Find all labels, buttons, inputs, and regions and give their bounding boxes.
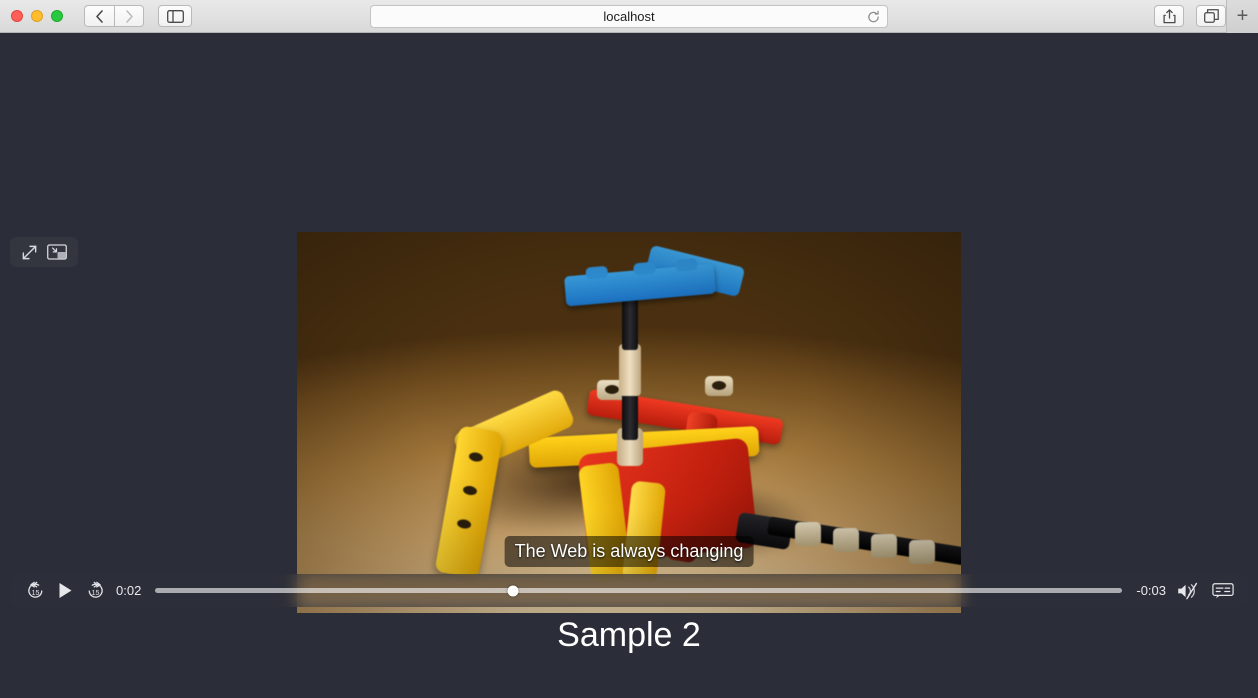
remaining-time-label: -0:03 [1128, 583, 1174, 598]
page-content: The Web is always changing 15 [0, 33, 1258, 698]
timeline-knob[interactable] [508, 585, 519, 596]
picture-in-picture-icon [47, 244, 67, 260]
play-button[interactable] [54, 578, 76, 604]
timeline-scrubber[interactable] [155, 588, 1122, 593]
picture-in-picture-button[interactable] [47, 244, 67, 260]
show-all-tabs-button[interactable] [1196, 5, 1226, 27]
reload-icon [867, 10, 880, 23]
skip-forward-15-icon: 15 [86, 581, 105, 600]
share-icon [1163, 9, 1176, 24]
mute-button[interactable] [1174, 578, 1200, 604]
media-float-pill [10, 237, 78, 267]
back-button[interactable] [84, 5, 114, 27]
video-player[interactable]: The Web is always changing [297, 232, 961, 613]
toolbar-right-group [1154, 5, 1226, 27]
page-title: Sample 2 [0, 616, 1258, 655]
share-button[interactable] [1154, 5, 1184, 27]
timeline-track [155, 588, 1122, 593]
skip-back-15-icon: 15 [26, 581, 45, 600]
close-window-button[interactable] [11, 10, 23, 22]
navigation-buttons [84, 5, 144, 27]
enter-fullscreen-icon [21, 244, 38, 261]
skip-back-amount-label: 15 [31, 590, 39, 597]
maximize-window-button[interactable] [51, 10, 63, 22]
closed-captions-icon [1212, 583, 1234, 599]
traffic-lights [0, 10, 63, 22]
address-bar[interactable]: localhost [370, 5, 888, 28]
captions-button[interactable] [1210, 578, 1236, 604]
address-bar-text: localhost [603, 9, 654, 24]
current-time-label: 0:02 [108, 583, 149, 598]
forward-button[interactable] [114, 5, 144, 27]
show-tabs-icon [1204, 9, 1219, 23]
reload-button[interactable] [867, 10, 880, 23]
chevron-right-icon [125, 10, 134, 23]
browser-toolbar: localhost + [0, 0, 1258, 33]
minimize-window-button[interactable] [31, 10, 43, 22]
media-controls-bar: 15 15 0:02 [10, 574, 1248, 607]
address-bar-container: localhost [370, 5, 888, 28]
skip-forward-amount-label: 15 [91, 590, 99, 597]
new-tab-label: + [1237, 5, 1249, 28]
enter-fullscreen-button[interactable] [21, 244, 38, 261]
new-tab-button[interactable]: + [1226, 0, 1258, 33]
muted-speaker-icon [1177, 582, 1198, 600]
chevron-left-icon [95, 10, 104, 23]
sidebar-toggle-button[interactable] [158, 5, 192, 27]
play-icon [58, 582, 73, 599]
skip-back-button[interactable]: 15 [22, 578, 48, 604]
skip-forward-button[interactable]: 15 [82, 578, 108, 604]
sidebar-icon [167, 10, 184, 23]
video-caption: The Web is always changing [505, 536, 754, 567]
